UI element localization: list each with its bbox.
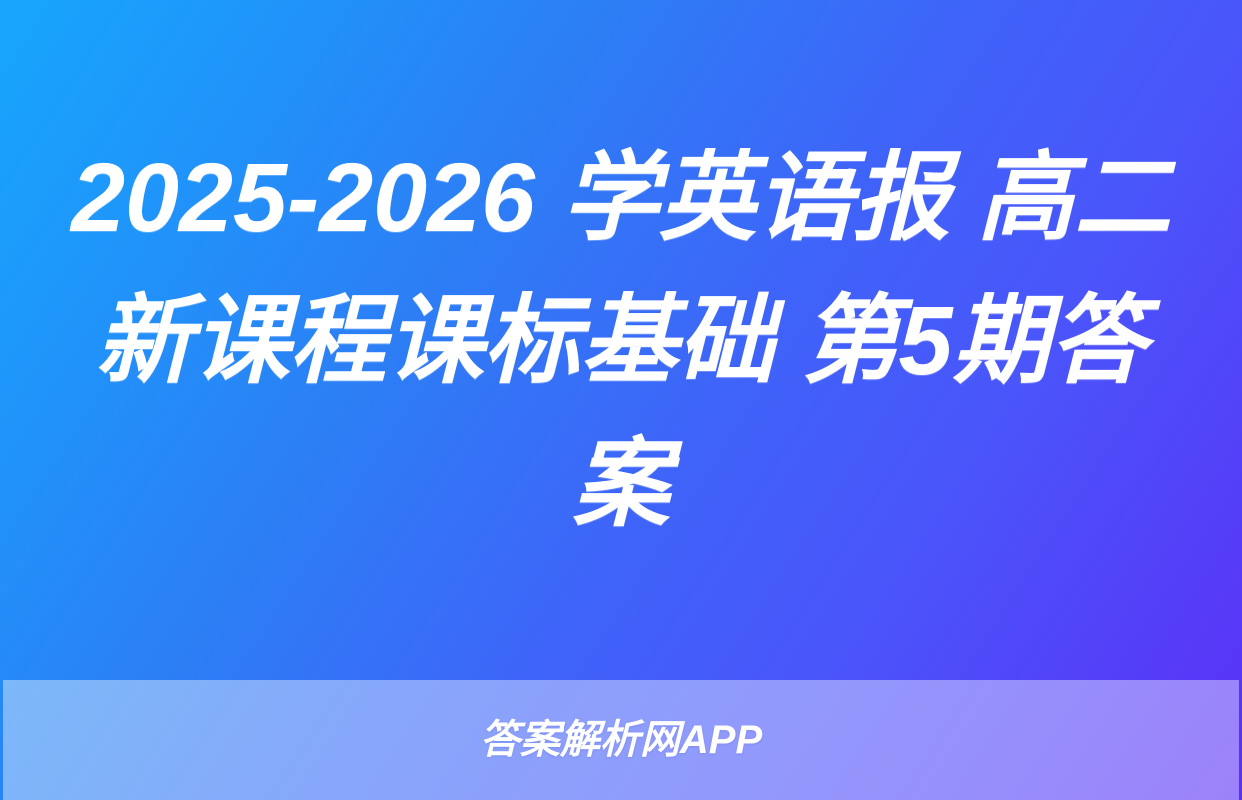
footer-band: 答案解析网APP — [3, 680, 1239, 800]
poster-canvas: 2025-2026 学英语报 高二 新课程课标基础 第5期答案 答案解析网APP — [0, 0, 1242, 800]
headline-container: 2025-2026 学英语报 高二 新课程课标基础 第5期答案 — [0, 0, 1242, 680]
app-brand-label: 答案解析网APP — [480, 718, 762, 762]
page-title: 2025-2026 学英语报 高二 新课程课标基础 第5期答案 — [58, 126, 1184, 555]
